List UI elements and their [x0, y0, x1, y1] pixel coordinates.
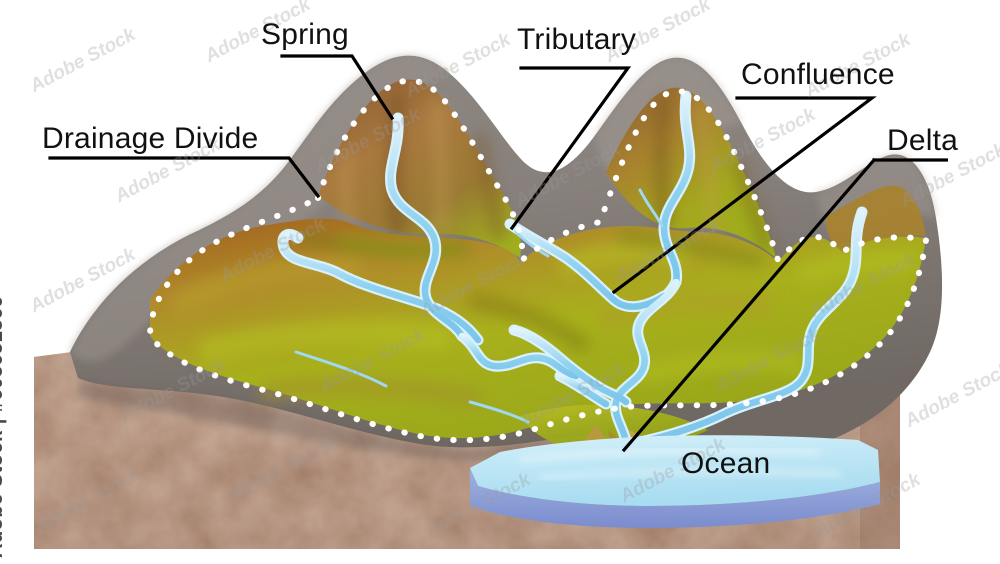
diagram-canvas: Adobe Stock Adobe Stock Adobe Stock Adob… — [0, 0, 1000, 564]
stock-credit-watermark: Adobe Stock | #603651366 — [0, 296, 8, 558]
ocean-water — [470, 435, 880, 528]
label-drainage-divide: Drainage Divide — [42, 122, 258, 156]
label-delta: Delta — [887, 124, 958, 158]
label-confluence: Confluence — [741, 58, 895, 92]
label-spring: Spring — [261, 18, 349, 52]
label-ocean: Ocean — [681, 447, 770, 481]
label-tributary: Tributary — [517, 23, 636, 57]
